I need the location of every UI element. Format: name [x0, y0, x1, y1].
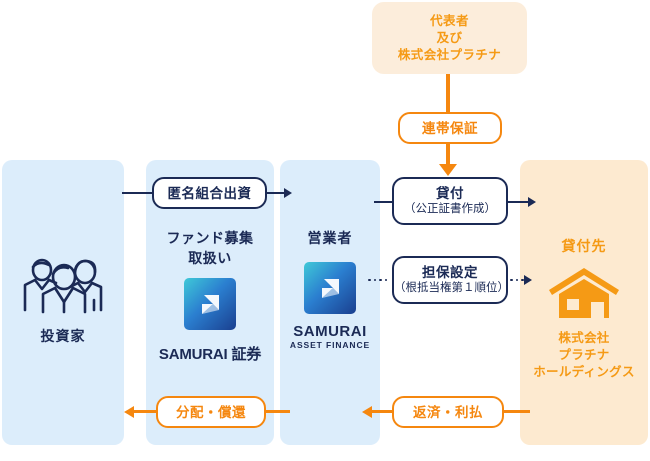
house-icon	[547, 264, 621, 322]
three-people-icon	[20, 252, 106, 314]
box-repayment: 返済・利払	[392, 396, 504, 428]
fund-heading-line-2: 取扱い	[188, 248, 232, 268]
borrower-name-line-3: ホールディングス	[533, 364, 635, 381]
samurai-arrow-logo-icon-2	[304, 262, 356, 314]
connector-operator-to-distribution	[264, 410, 290, 413]
connector-guarantor-to-guarantee	[446, 74, 450, 112]
box-loan: 貸付 （公正証書作成）	[392, 177, 508, 225]
guarantor-line-2: 及び	[437, 30, 463, 47]
box-collateral-title: 担保設定	[422, 264, 478, 281]
box-distribution-label: 分配・償還	[176, 404, 246, 421]
connector-investor-to-tokumei	[122, 192, 154, 194]
connector-operator-to-loan	[374, 201, 394, 203]
box-tokumei-label: 匿名組合出資	[168, 185, 252, 202]
samurai-arrow-logo-icon	[184, 278, 236, 330]
investor-block: 投資家	[2, 252, 124, 346]
arrow-right-to-borrower-icon	[528, 197, 536, 207]
connector-tokumei-to-operator	[266, 192, 286, 194]
operator-heading: 営業者	[308, 228, 353, 248]
box-loan-title: 貸付	[436, 185, 464, 202]
borrower-block: 貸付先 株式会社 プラチナ ホールディングス	[520, 236, 648, 381]
box-tokumei-investment: 匿名組合出資	[152, 177, 267, 209]
arrow-right-to-operator-icon	[284, 188, 292, 198]
scheme-diagram: 代表者 及び 株式会社プラチナ 連帯保証 匿名組合出資 貸付 （公正証書作成） …	[0, 0, 650, 461]
guarantor-line-3: 株式会社プラチナ	[398, 47, 501, 64]
fund-block: ファンド募集 取扱い SAMURAI 証券	[146, 228, 274, 364]
borrower-heading: 貸付先	[562, 236, 607, 256]
box-distribution: 分配・償還	[156, 396, 266, 428]
operator-brand-line-1: SAMURAI	[293, 324, 367, 340]
operator-brand-line-2: ASSET FINANCE	[290, 340, 370, 350]
investor-caption: 投資家	[41, 326, 86, 346]
box-repayment-label: 返済・利払	[413, 404, 483, 421]
box-guarantee-label: 連帯保証	[422, 120, 478, 137]
borrower-name-line-1: 株式会社	[558, 330, 609, 347]
box-guarantee: 連帯保証	[398, 112, 502, 144]
panel-guarantor: 代表者 及び 株式会社プラチナ	[372, 2, 527, 74]
guarantor-line-1: 代表者	[430, 13, 469, 30]
fund-brand: SAMURAI 証券	[159, 343, 261, 364]
arrow-down-to-loan-icon	[439, 164, 457, 176]
box-collateral-sub: （根抵当権第１順位）	[394, 281, 506, 296]
fund-heading-line-1: ファンド募集	[167, 228, 254, 248]
connector-loan-to-borrower	[506, 201, 530, 203]
operator-block: 営業者 SAMURAI ASSET FINANCE	[280, 228, 380, 350]
connector-distribution-to-investor	[132, 410, 158, 413]
connector-repayment-to-operator	[370, 410, 394, 413]
connector-borrower-to-repayment	[502, 410, 530, 413]
box-loan-sub: （公正証書作成）	[404, 202, 496, 217]
borrower-name-line-2: プラチナ	[558, 347, 609, 364]
box-collateral: 担保設定 （根抵当権第１順位）	[392, 256, 508, 304]
